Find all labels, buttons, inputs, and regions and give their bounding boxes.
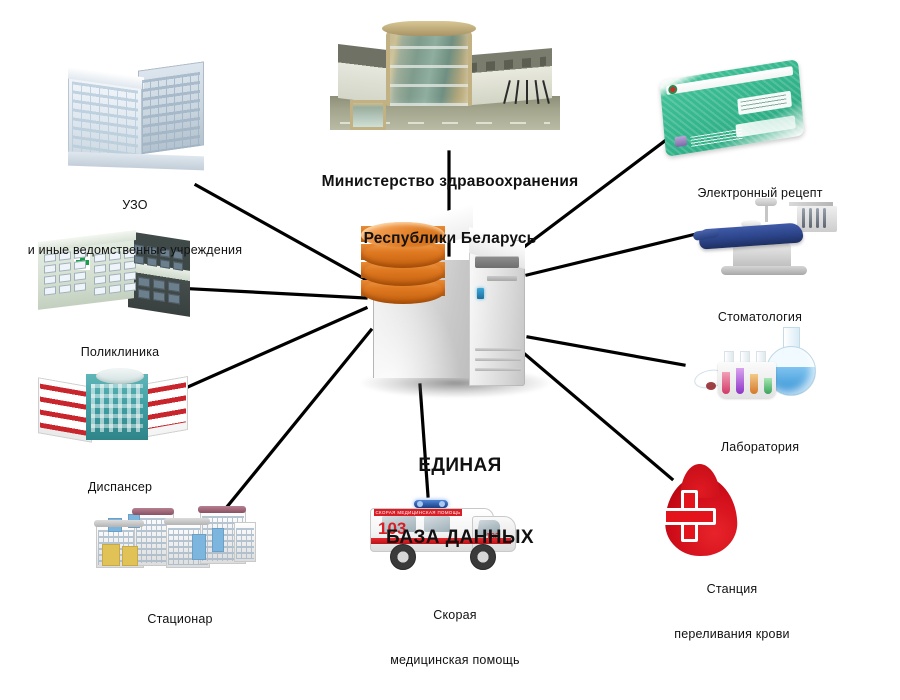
- label-polyclinic-line1: Поликлиника: [10, 345, 230, 360]
- label-ministry: Министерство здравоохранения Республики …: [280, 134, 620, 286]
- label-dentistry: Стоматология: [660, 280, 860, 355]
- diagram-canvas: Министерство здравоохранения Республики …: [0, 0, 900, 700]
- label-eprescription: Электронный рецепт: [650, 156, 870, 231]
- node-ministry-image[interactable]: [330, 18, 560, 130]
- label-uzo-line1: УЗО: [10, 198, 260, 213]
- power-led-icon: [477, 288, 484, 299]
- edge-center-polyclinic: [176, 288, 366, 298]
- label-blood-station-line2: переливания крови: [617, 627, 847, 642]
- label-laboratory-line1: Лаборатория: [660, 440, 860, 455]
- node-uzo-image[interactable]: [68, 62, 208, 170]
- label-central-line1: ЕДИНАЯ: [330, 454, 590, 478]
- label-dentistry-line1: Стоматология: [660, 310, 860, 325]
- label-ministry-line1: Министерство здравоохранения: [280, 172, 620, 191]
- node-eprescription-image[interactable]: [662, 70, 802, 148]
- label-central-line2: БАЗА ДАННЫХ: [330, 526, 590, 550]
- node-blood-station-icon[interactable]: [655, 472, 747, 564]
- label-inpatient-line1: Стационар: [70, 612, 290, 627]
- canopy-legs: [506, 78, 546, 104]
- label-polyclinic: Поликлиника: [10, 315, 230, 390]
- label-dispensary-line1: Диспансер: [10, 480, 230, 495]
- label-central-database: ЕДИНАЯ БАЗА ДАННЫХ: [330, 406, 590, 598]
- label-blood-station: Станция переливания крови: [617, 552, 847, 672]
- label-inpatient: Стационар: [70, 582, 290, 657]
- label-uzo-line2: и иные ведомственные учреждения: [10, 243, 260, 258]
- label-uzo: УЗО и иные ведомственные учреждения: [10, 168, 260, 288]
- label-ambulance-line2: медицинская помощь: [340, 653, 570, 668]
- label-ambulance-line1: Скорая: [340, 608, 570, 623]
- chip-icon: [674, 135, 687, 147]
- label-laboratory: Лаборатория: [660, 410, 860, 485]
- label-ministry-line2: Республики Беларусь: [280, 229, 620, 248]
- label-blood-station-line1: Станция: [617, 582, 847, 597]
- label-dispensary: Диспансер: [10, 450, 230, 525]
- label-eprescription-line1: Электронный рецепт: [650, 186, 870, 201]
